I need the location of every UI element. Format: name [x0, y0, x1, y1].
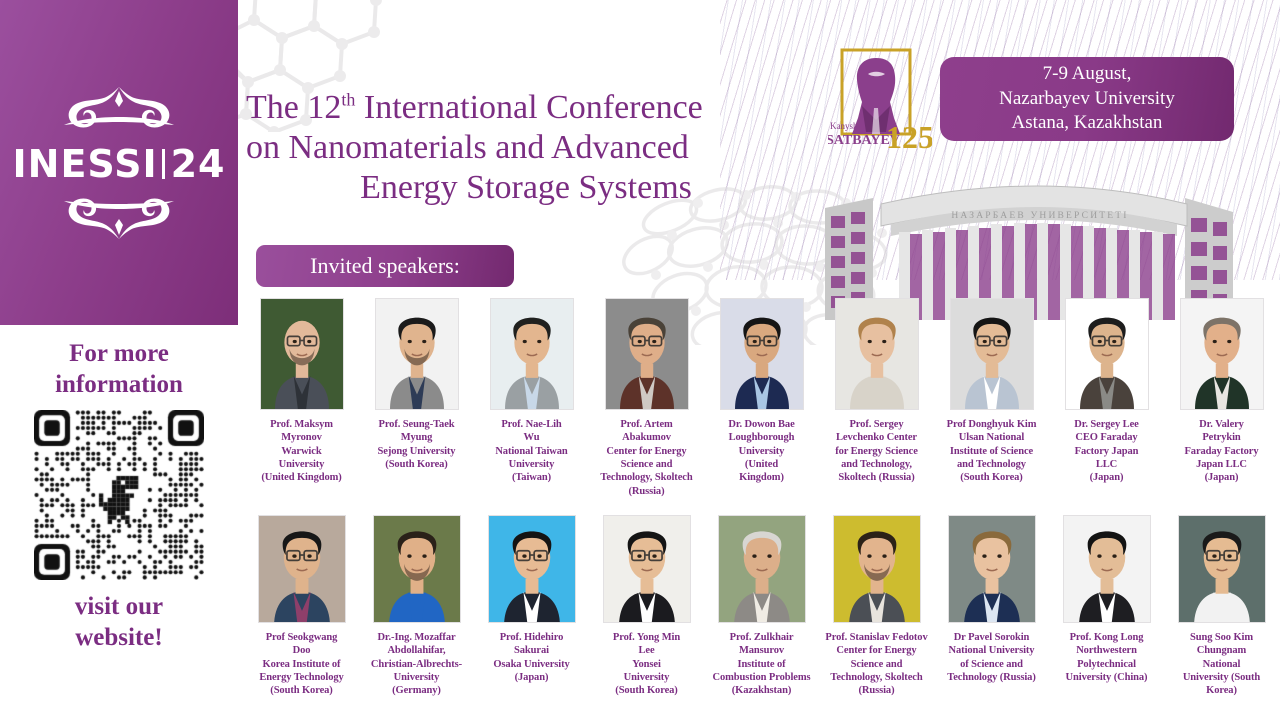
speaker-photo	[490, 298, 574, 410]
speaker-caption: Prof. MaksymMyronovWarwickUniversity(Uni…	[246, 418, 358, 485]
speaker-card: Prof. MaksymMyronovWarwickUniversity(Uni…	[244, 298, 359, 498]
date-location-badge: 7-9 August, Nazarbayev University Astana…	[940, 57, 1234, 141]
speaker-photo	[833, 515, 921, 623]
brand-wordmark-text: INESSI	[13, 142, 158, 186]
page-title: The 12th International Conference on Nan…	[246, 88, 806, 208]
speaker-card: Prof. Kong LongNorthwesternPolytechnical…	[1049, 515, 1164, 698]
speaker-caption: Dr. Dowon BaeLoughboroughUniversity(Unit…	[706, 418, 818, 485]
kazakh-ornament-bottom-icon	[44, 187, 194, 241]
emblem-name-small: Kanysh	[830, 121, 858, 131]
speaker-card: Dr.-Ing. MozaffarAbdollahifar,Christian-…	[359, 515, 474, 698]
speaker-card: Prof Donghyuk KimUlsan NationalInstitute…	[934, 298, 1049, 498]
speaker-caption: Dr. ValeryPetrykinFaraday FactoryJapan L…	[1166, 418, 1278, 485]
speaker-photo	[950, 298, 1034, 410]
qr-code-icon[interactable]	[34, 410, 204, 580]
visit-website-text: visit ourwebsite!	[75, 592, 163, 653]
qr-code-canvas[interactable]	[34, 410, 204, 580]
speaker-photo	[605, 298, 689, 410]
title-line2: on Nanomaterials and Advanced	[246, 128, 806, 168]
speaker-photo	[488, 515, 576, 623]
speaker-caption: Prof. Seung-TaekMyungSejong University(S…	[361, 418, 473, 471]
speaker-caption: Dr.-Ing. MozaffarAbdollahifar,Christian-…	[361, 631, 473, 698]
speaker-card: Prof. SergeyLevchenko Centerfor Energy S…	[819, 298, 934, 498]
invited-speakers-banner: Invited speakers:	[256, 245, 514, 287]
speaker-card: Dr. Dowon BaeLoughboroughUniversity(Unit…	[704, 298, 819, 498]
badge-date: 7-9 August,	[1043, 62, 1132, 87]
speaker-card: Prof. Nae-LihWuNational TaiwanUniversity…	[474, 298, 589, 498]
speaker-photo	[1065, 298, 1149, 410]
speaker-card: Dr. Sergey LeeCEO FaradayFactory JapanLL…	[1049, 298, 1164, 498]
speaker-caption: Prof. ArtemAbakumovCenter for EnergyScie…	[591, 418, 703, 498]
speaker-caption: Prof SeokgwangDooKorea Institute ofEnerg…	[246, 631, 358, 698]
speaker-card: Prof. HidehiroSakuraiOsaka University(Ja…	[474, 515, 589, 698]
speaker-photo	[260, 298, 344, 410]
speaker-caption: Dr Pavel SorokinNational Universityof Sc…	[936, 631, 1048, 684]
invited-speakers-label: Invited speakers:	[310, 253, 460, 279]
title-line1-prefix: The 12	[246, 89, 341, 126]
badge-city: Astana, Kazakhstan	[1012, 111, 1163, 136]
speaker-caption: Prof. Stanislav FedotovCenter for Energy…	[821, 631, 933, 698]
speaker-card: Sung Soo KimChungnamNationalUniversity (…	[1164, 515, 1279, 698]
speaker-card: Prof. ZulkhairMansurovInstitute ofCombus…	[704, 515, 819, 698]
brand-wordmark-year: 24	[171, 142, 226, 186]
brand-panel: INESSI24	[0, 0, 238, 325]
badge-venue: Nazarbayev University	[999, 87, 1175, 112]
speaker-photo	[720, 298, 804, 410]
speaker-card: Prof. Stanislav FedotovCenter for Energy…	[819, 515, 934, 698]
speaker-card: Dr Pavel SorokinNational Universityof Sc…	[934, 515, 1049, 698]
speakers-row-2: Prof SeokgwangDooKorea Institute ofEnerg…	[244, 515, 1280, 698]
speaker-photo	[373, 515, 461, 623]
speaker-photo	[1063, 515, 1151, 623]
title-line3: Energy Storage Systems	[246, 168, 806, 208]
satbayev-125-emblem: Kanysh SATBAYEV 125	[828, 44, 932, 162]
speaker-card: Prof. Yong MinLeeYonseiUniversity(South …	[589, 515, 704, 698]
speaker-caption: Prof. Nae-LihWuNational TaiwanUniversity…	[476, 418, 588, 485]
speaker-photo	[1178, 515, 1266, 623]
speaker-photo	[948, 515, 1036, 623]
title-line1-rest: International Conference	[355, 89, 702, 126]
speaker-caption: Prof. HidehiroSakuraiOsaka University(Ja…	[476, 631, 588, 684]
speaker-card: Prof. Seung-TaekMyungSejong University(S…	[359, 298, 474, 498]
speaker-caption: Prof. SergeyLevchenko Centerfor Energy S…	[821, 418, 933, 485]
speaker-card: Prof SeokgwangDooKorea Institute ofEnerg…	[244, 515, 359, 698]
speaker-caption: Prof. Kong LongNorthwesternPolytechnical…	[1051, 631, 1163, 684]
speaker-caption: Sung Soo KimChungnamNationalUniversity (…	[1166, 631, 1278, 698]
brand-divider	[162, 149, 165, 179]
speakers-row-1: Prof. MaksymMyronovWarwickUniversity(Uni…	[244, 298, 1280, 498]
university-building-icon: НАЗАРБАЕВ УНИВЕРСИТЕТІ	[795, 160, 1280, 320]
speaker-caption: Prof. Yong MinLeeYonseiUniversity(South …	[591, 631, 703, 698]
speaker-photo	[835, 298, 919, 410]
speaker-caption: Dr. Sergey LeeCEO FaradayFactory JapanLL…	[1051, 418, 1163, 485]
speaker-photo	[603, 515, 691, 623]
speaker-photo	[258, 515, 346, 623]
speaker-photo	[1180, 298, 1264, 410]
speaker-card: Prof. ArtemAbakumovCenter for EnergyScie…	[589, 298, 704, 498]
brand-logo: INESSI24	[0, 85, 238, 241]
speaker-photo	[375, 298, 459, 410]
more-information-heading: For moreinformation	[55, 339, 183, 400]
conference-poster: INESSI24 For moreinformation visit ourwe…	[0, 0, 1280, 720]
speaker-photo	[718, 515, 806, 623]
building-facade-text: НАЗАРБАЕВ УНИВЕРСИТЕТІ	[951, 211, 1128, 221]
emblem-anniversary: 125	[886, 119, 932, 155]
brand-wordmark: INESSI24	[0, 145, 238, 183]
speaker-caption: Prof Donghyuk KimUlsan NationalInstitute…	[936, 418, 1048, 485]
more-information-column: For moreinformation visit ourwebsite!	[0, 325, 238, 720]
speaker-caption: Prof. ZulkhairMansurovInstitute ofCombus…	[706, 631, 818, 698]
kazakh-ornament-top-icon	[44, 85, 194, 139]
speaker-card: Dr. ValeryPetrykinFaraday FactoryJapan L…	[1164, 298, 1279, 498]
title-ordinal-suffix: th	[341, 90, 355, 110]
